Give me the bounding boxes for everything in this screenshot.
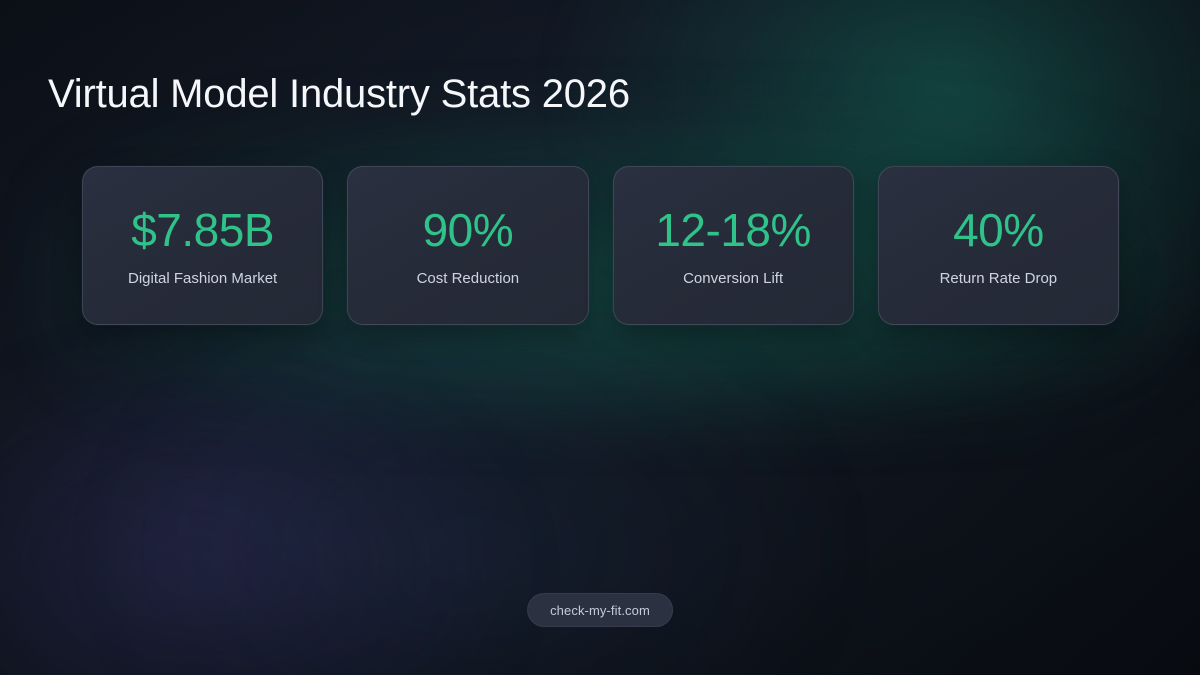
stat-label: Conversion Lift [683, 269, 783, 289]
slide-stage: Virtual Model Industry Stats 2026 $7.85B… [0, 0, 1200, 675]
stat-card-conversion-lift: 12-18% Conversion Lift [613, 166, 854, 325]
stat-card-digital-fashion-market: $7.85B Digital Fashion Market [82, 166, 323, 325]
stat-value: 12-18% [655, 203, 811, 257]
stat-card-cost-reduction: 90% Cost Reduction [347, 166, 588, 325]
stats-card-row: $7.85B Digital Fashion Market 90% Cost R… [82, 166, 1119, 325]
stat-value: $7.85B [131, 203, 274, 257]
stat-label: Digital Fashion Market [128, 269, 277, 289]
stat-label: Return Rate Drop [940, 269, 1058, 289]
footer-site-badge[interactable]: check-my-fit.com [527, 593, 673, 627]
stat-value: 90% [423, 203, 514, 257]
stat-label: Cost Reduction [417, 269, 520, 289]
stat-card-return-rate-drop: 40% Return Rate Drop [878, 166, 1119, 325]
page-title: Virtual Model Industry Stats 2026 [48, 68, 630, 120]
stat-value: 40% [953, 203, 1044, 257]
